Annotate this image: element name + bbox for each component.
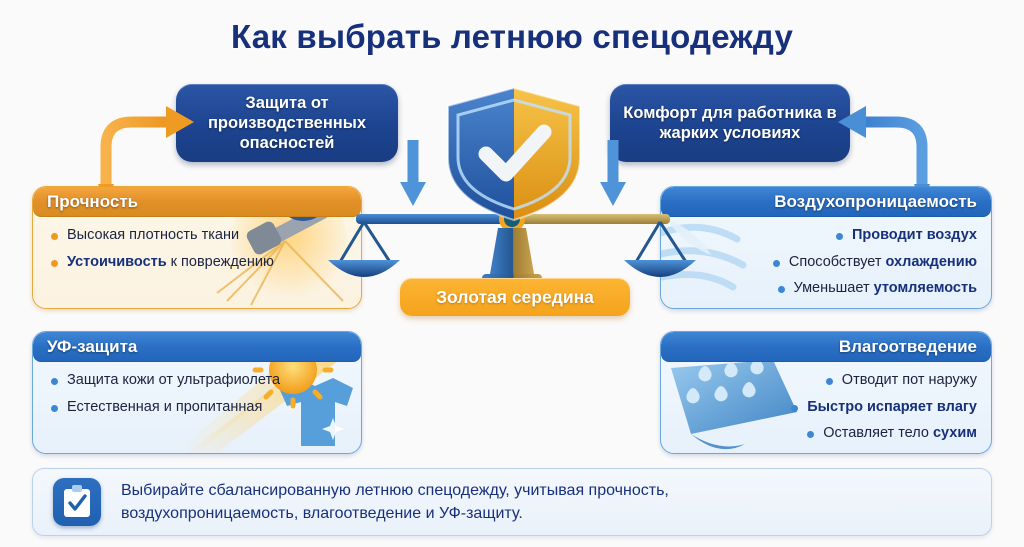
bullet-text-strong: сухим <box>933 425 977 441</box>
bullet-text: Защита кожи от ультрафиолета <box>67 372 280 390</box>
bullet-text-strong: охлаждению <box>886 254 977 270</box>
bullet-item: Естественная и пропитанная <box>47 399 347 417</box>
top-box-protection-label: Защита от производственных опасностей <box>186 93 388 153</box>
gold-middle-badge-label: Золотая середина <box>436 287 594 308</box>
card-breathability-bullets: Проводит воздух Способствует охлаждению … <box>661 217 991 309</box>
bullet-text: Устоичивость к повреждению <box>67 254 274 272</box>
infographic-canvas: Как выбрать летнюю спецодежду Защита от … <box>0 0 1024 547</box>
gold-middle-badge[interactable]: Золотая середина <box>400 278 630 316</box>
bullet-item: Проводит воздух <box>675 227 977 245</box>
bullet-item: Способствует охлаждению <box>675 254 977 272</box>
bullet-text: Быстро испаряет влагу <box>807 399 977 417</box>
bullet-dot <box>51 405 58 412</box>
bullet-text-strong: Быстро испаряет влагу <box>807 399 977 415</box>
card-uv-bullets: Защита кожи от ультрафиолета Естественна… <box>33 362 361 431</box>
bullet-dot <box>51 233 58 240</box>
card-moisture-bullets: Отводит пот наружу Быстро испаряет влагу… <box>661 362 991 454</box>
bullet-item: Уменьшает утомляемость <box>675 280 977 298</box>
card-moisture-title: Влагоотведение <box>661 332 991 362</box>
bullet-text: Проводит воздух <box>852 227 977 245</box>
footer-summary: Выбирайте сбалансированную летнюю спецод… <box>32 468 992 536</box>
card-moisture-wicking[interactable]: Влагоотведение Отводит пот наружу Быстро… <box>660 331 992 454</box>
bullet-dot <box>778 286 785 293</box>
card-durability-bullets: Высокая плотность ткани Устоичивость к п… <box>33 217 361 286</box>
bullet-text-pre: Способствует <box>789 254 886 270</box>
card-breathability[interactable]: Воздухопроницаемость Проводит воздух Спо… <box>660 186 992 309</box>
top-box-comfort[interactable]: Комфорт для работника в жарких условиях <box>610 84 850 162</box>
bullet-dot <box>791 405 798 412</box>
bullet-text: Уменьшает утомляемость <box>794 280 977 298</box>
top-box-comfort-label: Комфорт для работника в жарких условиях <box>620 103 840 143</box>
bullet-dot <box>773 260 780 267</box>
bullet-text-strong: утомляемость <box>874 280 977 296</box>
shield-check-icon <box>434 84 594 224</box>
bullet-item: Защита кожи от ультрафиолета <box>47 372 347 390</box>
footer-line-2: воздухопроницаемость, влагоотведение и У… <box>121 502 669 525</box>
card-durability[interactable]: Прочность Высокая плотность ткани Устоич… <box>32 186 362 309</box>
bullet-item: Устоичивость к повреждению <box>47 254 347 272</box>
footer-text: Выбирайте сбалансированную летнюю спецод… <box>121 479 669 525</box>
page-title: Как выбрать летнюю спецодежду <box>0 18 1024 56</box>
bullet-item: Высокая плотность ткани <box>47 227 347 245</box>
bullet-item: Быстро испаряет влагу <box>675 399 977 417</box>
bullet-text-strong: Устоичивость <box>67 254 167 270</box>
bullet-item: Оставляет тело сухим <box>675 425 977 443</box>
bullet-text: Естественная и пропитанная <box>67 399 262 417</box>
bullet-text-pre: Оставляет тело <box>823 425 933 441</box>
card-breathability-title: Воздухопроницаемость <box>661 187 991 217</box>
card-uv-protection[interactable]: УФ-защита Защита кожи от ультрафиолета Е… <box>32 331 362 454</box>
card-durability-title: Прочность <box>33 187 361 217</box>
bullet-text: Отводит пот наружу <box>842 372 977 390</box>
clipboard-check-icon <box>53 478 101 526</box>
bullet-dot <box>826 378 833 385</box>
card-uv-title: УФ-защита <box>33 332 361 362</box>
bullet-text: Высокая плотность ткани <box>67 227 239 245</box>
bullet-dot <box>51 378 58 385</box>
bullet-text: Способствует охлаждению <box>789 254 977 272</box>
bullet-dot <box>51 260 58 267</box>
bullet-item: Отводит пот наружу <box>675 372 977 390</box>
footer-line-1: Выбирайте сбалансированную летнюю спецод… <box>121 479 669 502</box>
bullet-text-strong: Проводит воздух <box>852 227 977 243</box>
bullet-text: Оставляет тело сухим <box>823 425 977 443</box>
bullet-text-tail: к повреждению <box>167 254 274 270</box>
bullet-dot <box>807 431 814 438</box>
top-box-protection[interactable]: Защита от производственных опасностей <box>176 84 398 162</box>
bullet-text-pre: Уменьшает <box>794 280 874 296</box>
bullet-dot <box>836 233 843 240</box>
